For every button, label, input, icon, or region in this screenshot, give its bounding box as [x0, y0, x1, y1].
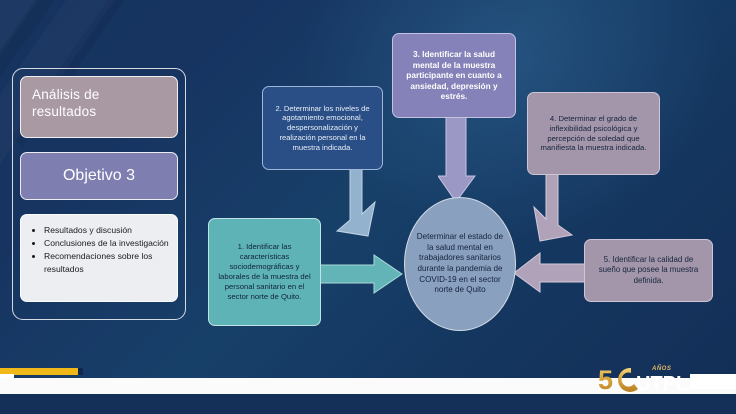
- objective-node-1-label: 1. Identificar las características socio…: [216, 242, 313, 301]
- objective-node-2-label: 2. Determinar los niveles de agotamiento…: [270, 104, 375, 153]
- objective-node-4-label: 4. Determinar el grado de inflexibilidad…: [535, 114, 652, 153]
- footer-white-chip-right: [690, 374, 736, 389]
- bullet-list: Resultados y discusión Conclusiones de l…: [27, 224, 169, 275]
- objective-node-3[interactable]: 3. Identificar la salud mental de la mue…: [392, 33, 516, 118]
- objective-node-5[interactable]: 5. Identificar la calidad de sueño que p…: [584, 239, 713, 302]
- objective-node-5-label: 5. Identificar la calidad de sueño que p…: [592, 255, 705, 285]
- center-objective-node: Determinar el estado de la salud mental …: [404, 197, 516, 331]
- objective-label: Objetivo 3: [63, 167, 135, 185]
- list-item: Conclusiones de la investigación: [44, 237, 169, 249]
- decorative-stripe: [0, 0, 11, 168]
- bullet-list-card: Resultados y discusión Conclusiones de l…: [20, 214, 178, 302]
- footer-bottom-band: [0, 394, 736, 414]
- objective-node-1[interactable]: 1. Identificar las características socio…: [208, 218, 321, 326]
- arrow-node1-to-center: [316, 253, 416, 295]
- list-item: Recomendaciones sobre los resultados: [44, 250, 169, 274]
- logo-ring-zero: [618, 368, 638, 392]
- objective-node-4[interactable]: 4. Determinar el grado de inflexibilidad…: [527, 92, 660, 175]
- panel-title-card: Análisis de resultados: [20, 76, 178, 138]
- arrow-node3-to-center: [438, 114, 478, 206]
- logo-number-5: 5: [598, 365, 613, 395]
- objective-node-2[interactable]: 2. Determinar los niveles de agotamiento…: [262, 86, 383, 170]
- objective-node-3-label: 3. Identificar la salud mental de la mue…: [400, 49, 508, 102]
- utpl-logo: 5 UTPL: [598, 362, 690, 396]
- list-item: Resultados y discusión: [44, 224, 169, 236]
- center-objective-label: Determinar el estado de la salud mental …: [416, 232, 504, 296]
- left-info-panel: Análisis de resultados Objetivo 3 Result…: [12, 68, 186, 320]
- page-title: Análisis de resultados: [32, 87, 100, 119]
- logo-anos-label: AÑOS: [652, 366, 671, 372]
- slide-canvas: Análisis de resultados Objetivo 3 Result…: [0, 0, 736, 414]
- gold-accent-bar-cap: [78, 368, 83, 375]
- objective-card: Objetivo 3: [20, 152, 178, 200]
- logo-utpl-text: UTPL: [636, 373, 688, 395]
